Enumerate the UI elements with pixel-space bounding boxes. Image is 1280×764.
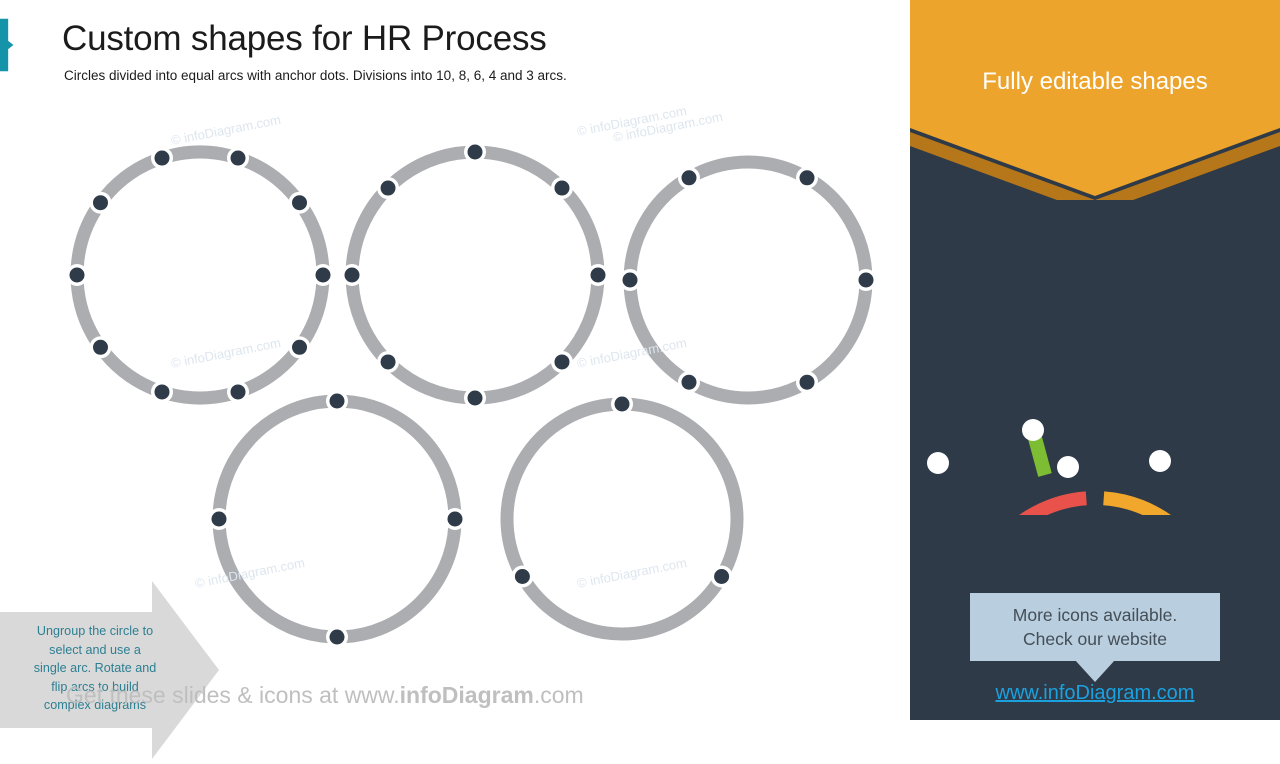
eye-anchor-dot[interactable] xyxy=(1057,456,1079,478)
more-icons-callout: More icons available. Check our website … xyxy=(910,578,1280,720)
website-link[interactable]: www.infoDiagram.com xyxy=(910,682,1280,705)
banner-title: Fully editable shapes xyxy=(910,68,1280,96)
callout-box: More icons available. Check our website xyxy=(970,593,1220,661)
watermark: © infoDiagram.com xyxy=(170,112,282,148)
eye-anchor-dot[interactable] xyxy=(1149,450,1171,472)
arrow-line-2: single arc. Rotate and xyxy=(14,659,176,678)
callout-line-2: Check our website xyxy=(1023,627,1167,651)
page-title: Custom shapes for HR Process xyxy=(62,19,547,59)
watermark: © infoDiagram.com xyxy=(576,555,688,591)
watermark: © infoDiagram.com xyxy=(170,335,282,371)
right-side-panel: Fully editable shapes More icons availab… xyxy=(910,0,1280,720)
diagram-canvas: © infoDiagram.com© infoDiagram.com© info… xyxy=(0,100,910,670)
eye-arc-green[interactable] xyxy=(1035,438,1045,475)
callout-line-1: More icons available. xyxy=(1013,603,1177,627)
footer-suffix: .com xyxy=(534,682,584,708)
watermark: © infoDiagram.com xyxy=(576,335,688,371)
eye-anchor-dot[interactable] xyxy=(1022,419,1044,441)
arrow-line-0: Ungroup the circle to xyxy=(14,622,176,641)
page-subtitle: Circles divided into equal arcs with anc… xyxy=(64,68,567,83)
fully-editable-banner xyxy=(910,0,1280,200)
slide-root: Custom shapes for HR Process Circles div… xyxy=(0,0,1280,720)
eye-shape-diagram xyxy=(910,385,1280,515)
footer-promo: Get these slides & icons at www.infoDiag… xyxy=(66,682,584,709)
arc-samples-group xyxy=(910,215,1280,355)
eye-arc-orange[interactable] xyxy=(1104,498,1194,515)
teal-accent-bar xyxy=(0,0,14,90)
eye-arc-red[interactable] xyxy=(996,498,1086,515)
eye-anchor-dot[interactable] xyxy=(927,452,949,474)
arrow-line-1: select and use a xyxy=(14,641,176,660)
footer-brand: infoDiagram xyxy=(400,682,534,708)
footer-prefix: Get these slides & icons at www. xyxy=(66,682,400,708)
ungroup-instruction-arrow: Ungroup the circle to select and use a s… xyxy=(0,578,220,764)
